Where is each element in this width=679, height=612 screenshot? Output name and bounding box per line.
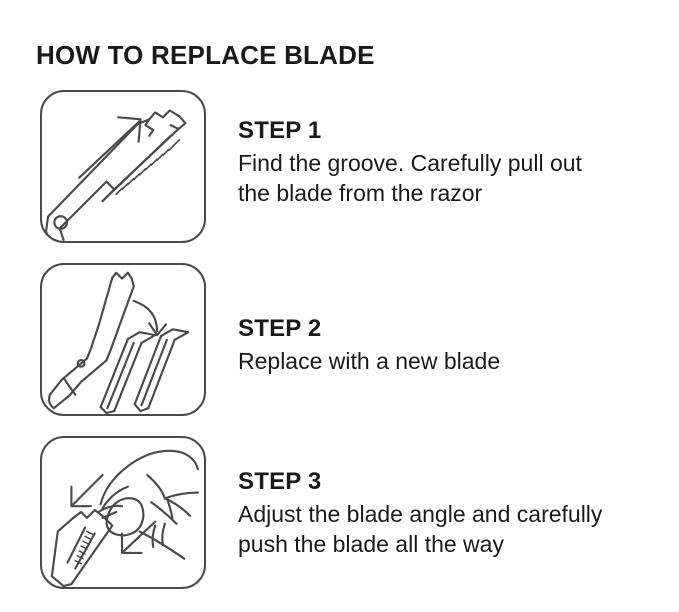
step-3-description: Adjust the blade angle and carefully pus… xyxy=(238,499,668,559)
step-3-label: STEP 3 xyxy=(238,468,668,496)
step-1-text-block: STEP 1 Find the groove. Carefully pull o… xyxy=(238,117,668,208)
step-2-illustration-panel xyxy=(40,263,206,416)
page-title: HOW TO REPLACE BLADE xyxy=(36,40,375,71)
step-1-label: STEP 1 xyxy=(238,117,668,145)
step-3-illustration-panel xyxy=(40,436,206,589)
step-2-text-block: STEP 2 Replace with a new blade xyxy=(238,315,668,376)
step-1-illustration-panel xyxy=(40,90,206,243)
razor-insert-new-blade-illustration xyxy=(42,265,204,414)
step-2-description: Replace with a new blade xyxy=(238,346,668,376)
step-2-label: STEP 2 xyxy=(238,315,668,343)
step-1-description: Find the groove. Carefully pull out the … xyxy=(238,148,668,208)
step-3-text-block: STEP 3 Adjust the blade angle and carefu… xyxy=(238,468,668,559)
hand-pushing-blade-illustration xyxy=(42,438,204,587)
razor-pull-out-blade-illustration xyxy=(42,92,204,241)
